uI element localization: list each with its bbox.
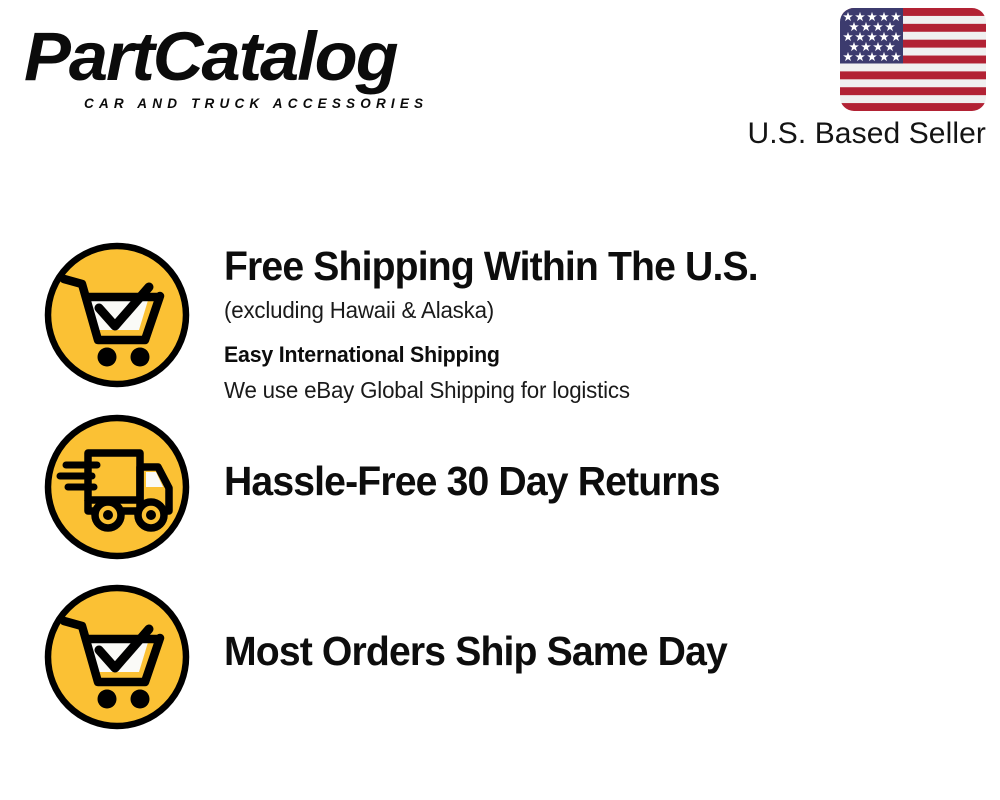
feature-headline: Free Shipping Within The U.S.: [224, 242, 965, 290]
feature-row: Hassle-Free 30 Day Returns: [0, 412, 1000, 567]
feature-row: Most Orders Ship Same Day: [0, 582, 1000, 737]
feature-subline: (excluding Hawaii & Alaska): [224, 295, 977, 326]
brand-wordmark: PartCatalog: [24, 22, 503, 92]
feature-text-block: Most Orders Ship Same Day: [192, 582, 1000, 675]
feature-text-block: Free Shipping Within The U.S. (excluding…: [192, 240, 1000, 406]
banner-header: PartCatalog CAR AND TRUCK ACCESSORIES: [0, 0, 1000, 170]
us-based-seller-badge: U.S. Based Seller: [716, 8, 986, 151]
shipping-info-banner: PartCatalog CAR AND TRUCK ACCESSORIES: [0, 0, 1000, 800]
feature-sub-headline: Easy International Shipping: [224, 340, 977, 370]
delivery-truck-icon: [42, 412, 192, 562]
feature-headline: Most Orders Ship Same Day: [224, 627, 965, 675]
feature-text-block: Hassle-Free 30 Day Returns: [192, 412, 1000, 505]
brand-tagline: CAR AND TRUCK ACCESSORIES: [84, 96, 428, 111]
us-flag-icon: [840, 8, 986, 111]
shopping-cart-check-icon: [42, 582, 192, 732]
shopping-cart-check-icon: [42, 240, 192, 390]
feature-sub-detail: We use eBay Global Shipping for logistic…: [224, 375, 977, 406]
feature-headline: Hassle-Free 30 Day Returns: [224, 457, 965, 505]
feature-row: Free Shipping Within The U.S. (excluding…: [0, 240, 1000, 405]
partcatalog-logo: PartCatalog CAR AND TRUCK ACCESSORIES: [24, 22, 494, 114]
us-based-seller-label: U.S. Based Seller: [716, 117, 986, 151]
